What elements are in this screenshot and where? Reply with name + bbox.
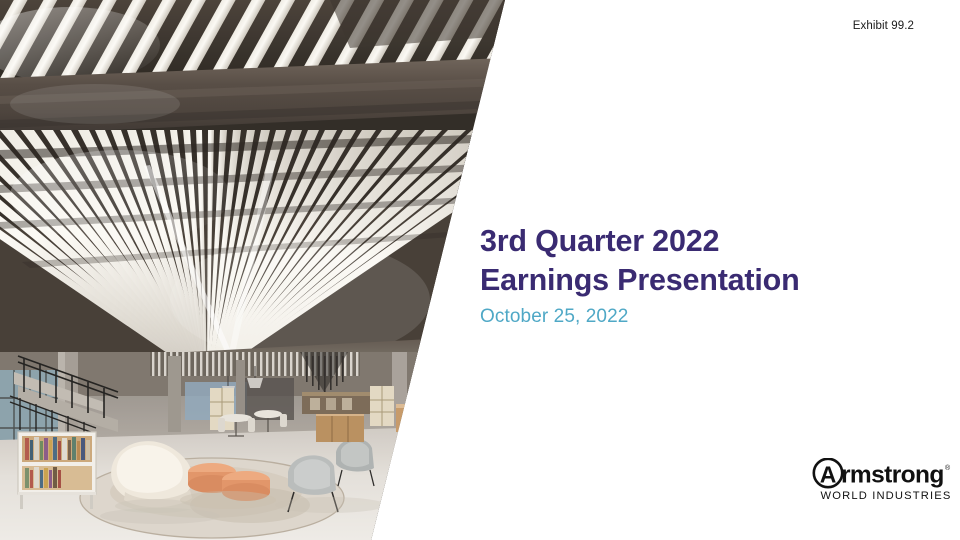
logo-trademark: ®	[945, 464, 951, 472]
armstrong-world-industries-logo: A rmstrong ® WORLD INDUSTRIES	[812, 458, 954, 504]
hero-image	[0, 0, 505, 540]
presentation-title-line-1: 3rd Quarter 2022	[480, 222, 930, 261]
presentation-date: October 25, 2022	[480, 306, 930, 328]
presentation-title-line-2: Earnings Presentation	[480, 261, 930, 300]
logo-wordmark: rmstrong	[841, 462, 944, 489]
circled-a-monogram-icon: A	[814, 459, 842, 488]
presentation-slide: Exhibit 99.2 3rd Quarter 2022 Earnings P…	[0, 0, 960, 540]
title-block: 3rd Quarter 2022 Earnings Presentation O…	[480, 222, 930, 328]
svg-text:A: A	[820, 462, 837, 488]
exhibit-label: Exhibit 99.2	[853, 20, 914, 32]
logo-tagline: WORLD INDUSTRIES	[821, 490, 952, 502]
